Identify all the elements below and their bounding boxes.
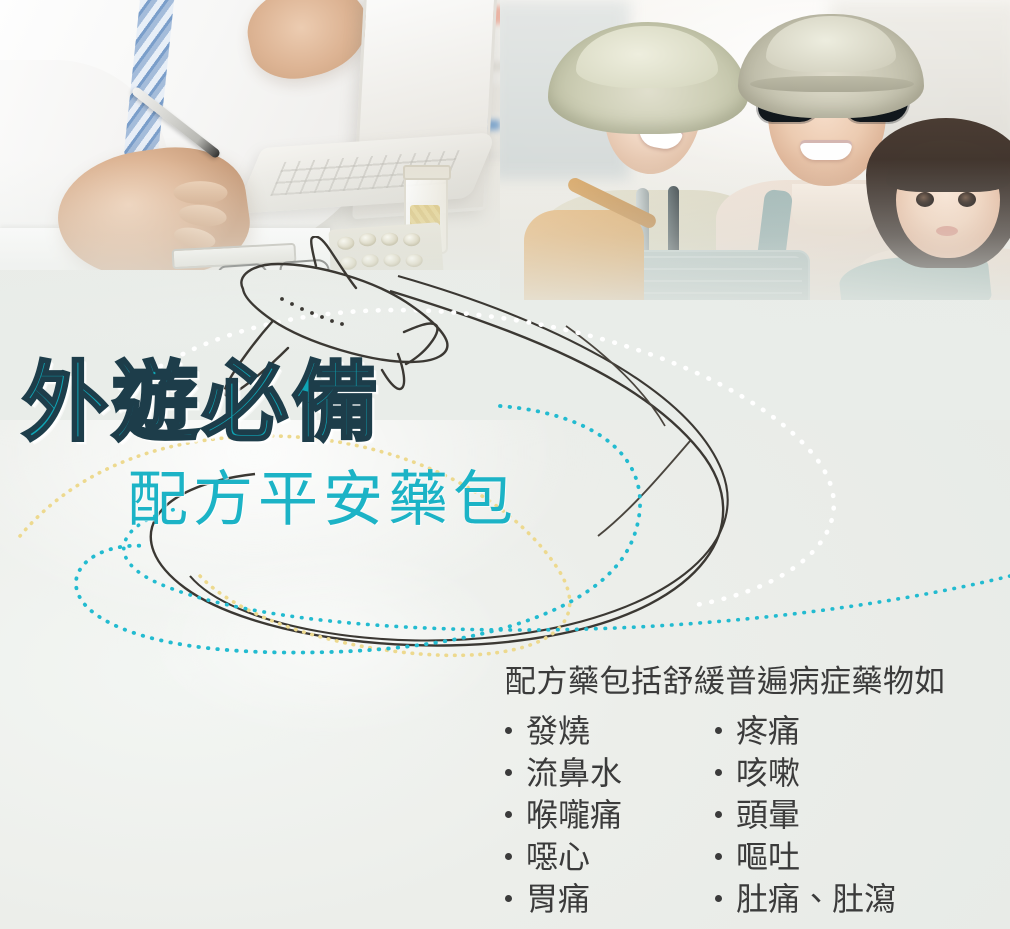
child-face <box>896 150 1000 258</box>
father-backpack-strap <box>751 189 793 300</box>
list-item-label: 噁心 <box>526 836 590 878</box>
father-body <box>716 180 966 300</box>
child-mouth <box>936 226 958 236</box>
symptom-column-right: 疼痛 咳嗽 頭暈 嘔吐 肚痛、肚瀉 <box>715 710 975 920</box>
laptop <box>300 0 540 230</box>
list-item-label: 發燒 <box>526 710 590 752</box>
list-item: 頭暈 <box>715 794 975 836</box>
symptom-column-left: 發燒 流鼻水 喉嚨痛 噁心 胃痛 <box>505 710 715 920</box>
list-item-label: 流鼻水 <box>526 752 622 794</box>
bullet-dot-icon <box>505 811 512 818</box>
hero-headline-block: 外遊必備 配方平安藥包 <box>0 350 620 580</box>
prescription-paper <box>0 228 330 270</box>
laptop-keys <box>270 150 460 196</box>
father-collar <box>792 184 878 236</box>
pharmacy-shelf <box>352 0 538 160</box>
list-item-label: 嘔吐 <box>736 836 800 878</box>
mother-sun-hat <box>548 22 748 134</box>
eyeglasses <box>217 258 339 270</box>
list-item-label: 頭暈 <box>736 794 800 836</box>
bullet-dot-icon <box>715 727 722 734</box>
symptom-panel: 配方藥包括舒緩普遍病症藥物如 發燒 流鼻水 喉嚨痛 噁心 <box>505 662 975 920</box>
mother-body <box>536 190 766 300</box>
page-subtitle: 配方平安藥包 <box>128 470 518 530</box>
sunglasses-icon <box>758 82 908 124</box>
list-item: 嘔吐 <box>715 836 975 878</box>
bullet-dot-icon <box>715 895 722 902</box>
mother-smile <box>636 122 683 151</box>
bullet-dot-icon <box>505 727 512 734</box>
symptom-columns: 發燒 流鼻水 喉嚨痛 噁心 胃痛 <box>505 710 975 920</box>
raised-hand <box>240 0 376 87</box>
list-item: 胃痛 <box>505 878 715 920</box>
bullet-dot-icon <box>715 769 722 776</box>
father-face <box>768 62 886 186</box>
list-item: 咳嗽 <box>715 752 975 794</box>
child-body <box>858 248 1010 300</box>
child-fringe <box>886 140 1010 192</box>
luggage-handle-left <box>636 188 649 264</box>
background-building-left <box>500 0 630 180</box>
luggage-handle-right <box>668 186 679 264</box>
necktie <box>123 0 175 163</box>
bullet-dot-icon <box>715 853 722 860</box>
fedora-hat-band <box>750 76 914 92</box>
child-hair <box>866 118 1010 268</box>
page-title: 外遊必備 <box>22 360 382 446</box>
lab-coat <box>0 0 390 270</box>
bullet-dot-icon <box>505 853 512 860</box>
mother-face <box>596 55 708 181</box>
father-smile <box>800 140 852 160</box>
bullet-dot-icon <box>505 769 512 776</box>
bullet-dot-icon <box>715 811 722 818</box>
mother-backpack <box>524 210 644 300</box>
child-scarf <box>837 248 992 300</box>
father-fedora-hat <box>738 14 924 118</box>
list-item: 肚痛、肚瀉 <box>715 878 975 920</box>
list-item: 喉嚨痛 <box>505 794 715 836</box>
list-item: 噁心 <box>505 836 715 878</box>
list-item-label: 疼痛 <box>736 710 800 752</box>
pill-jar <box>404 172 448 254</box>
pharmacist-prescription-photo <box>0 0 560 270</box>
sky-backdrop <box>500 0 1010 300</box>
promo-poster: 外遊必備 配方平安藥包 配方藥包括舒緩普遍病症藥物如 發燒 流鼻水 喉嚨痛 <box>0 0 1010 929</box>
list-item-label: 喉嚨痛 <box>526 794 622 836</box>
list-item-label: 咳嗽 <box>736 752 800 794</box>
symptom-intro-text: 配方藥包括舒緩普遍病症藥物如 <box>505 662 975 704</box>
writing-hand <box>50 137 256 270</box>
list-item: 疼痛 <box>715 710 975 752</box>
clipboard-clip <box>172 243 297 269</box>
mother-backpack-strap <box>566 176 658 231</box>
bullet-dot-icon <box>505 895 512 902</box>
laptop-keyboard <box>235 132 498 214</box>
list-item-label: 肚痛、肚瀉 <box>736 878 896 920</box>
list-item: 發燒 <box>505 710 715 752</box>
pen <box>131 86 222 160</box>
list-item: 流鼻水 <box>505 752 715 794</box>
mother-hair <box>572 108 722 248</box>
travelling-family-photo <box>500 0 1010 300</box>
background-building-right <box>830 0 1010 150</box>
list-item-label: 胃痛 <box>526 878 590 920</box>
pill-blister-pack <box>328 222 443 270</box>
lab-coat-sleeve <box>0 60 170 270</box>
laptop-screen <box>352 0 498 219</box>
suitcase <box>620 250 810 300</box>
